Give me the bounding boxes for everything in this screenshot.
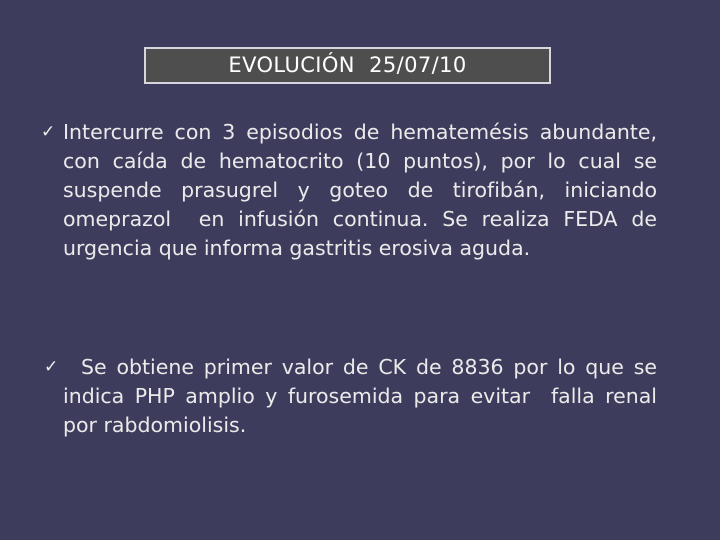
slide-title-box: EVOLUCIÓN 25/07/10	[144, 47, 551, 84]
list-item: ✓ Se obtiene primer valor de CK de 8836 …	[0, 353, 720, 440]
slide-body: ✓ Intercurre con 3 episodios de hematemé…	[0, 118, 720, 440]
slide-canvas: EVOLUCIÓN 25/07/10 ✓ Intercurre con 3 ep…	[0, 0, 720, 540]
checkmark-icon: ✓	[44, 353, 58, 382]
list-item: ✓ Intercurre con 3 episodios de hematemé…	[0, 118, 720, 263]
list-item-text: Intercurre con 3 episodios de hematemési…	[63, 118, 657, 263]
list-item-text: Se obtiene primer valor de CK de 8836 po…	[63, 353, 657, 440]
page-title: EVOLUCIÓN 25/07/10	[228, 55, 466, 76]
checkmark-icon: ✓	[41, 118, 55, 147]
